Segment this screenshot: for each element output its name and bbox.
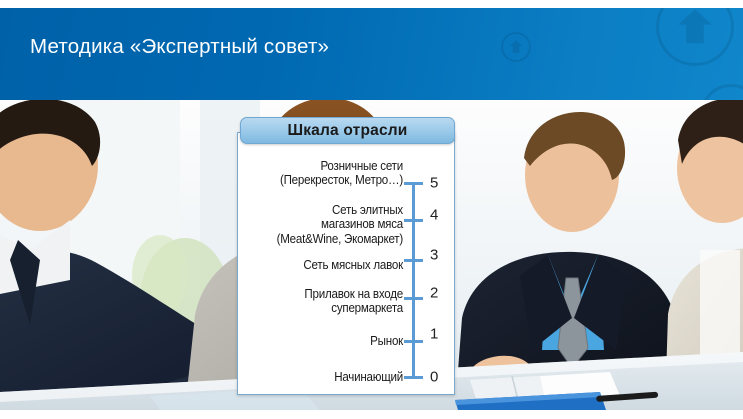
arrow-logo-large-icon	[656, 8, 734, 66]
scale-tick-2	[404, 297, 423, 300]
scale-value-0: 0	[430, 369, 438, 386]
scale-value-1: 1	[430, 326, 438, 343]
scale-label-4: Сеть элитных магазинов мяса (Meat&Wine, …	[248, 203, 403, 246]
scale-value-3: 3	[430, 247, 438, 264]
scale-label-5: Розничные сети (Перекресток, Метро…)	[248, 159, 403, 188]
scale-value-2: 2	[430, 285, 438, 302]
scale-value-4: 4	[430, 207, 438, 224]
scale-body: 5 Розничные сети (Перекресток, Метро…) 4…	[237, 145, 455, 395]
scale-value-5: 5	[430, 175, 438, 192]
scale-panel-title: Шкала отрасли	[287, 122, 407, 140]
arrow-glyph	[510, 40, 523, 53]
arrow-logo-small-icon	[700, 84, 743, 100]
slide-header-band: Методика «Экспертный совет»	[0, 8, 743, 100]
scale-label-0: Начинающий	[248, 370, 403, 384]
arrow-glyph	[678, 9, 712, 43]
arrow-logo-medium-icon	[501, 32, 531, 62]
scale-tick-0	[404, 376, 423, 379]
scale-label-3: Сеть мясных лавок	[248, 258, 403, 272]
scale-label-2: Прилавок на входе супермаркета	[248, 287, 403, 316]
scale-label-1: Рынок	[248, 334, 403, 348]
scale-tick-5	[404, 182, 423, 185]
page-title: Методика «Экспертный совет»	[30, 35, 329, 59]
scale-tick-4	[404, 219, 423, 222]
scale-axis-line	[412, 182, 415, 378]
scale-panel-header: Шкала отрасли	[240, 117, 455, 144]
scale-tick-3	[404, 259, 423, 262]
scale-tick-1	[404, 340, 423, 343]
slide-canvas: Методика «Экспертный совет»	[0, 0, 743, 419]
